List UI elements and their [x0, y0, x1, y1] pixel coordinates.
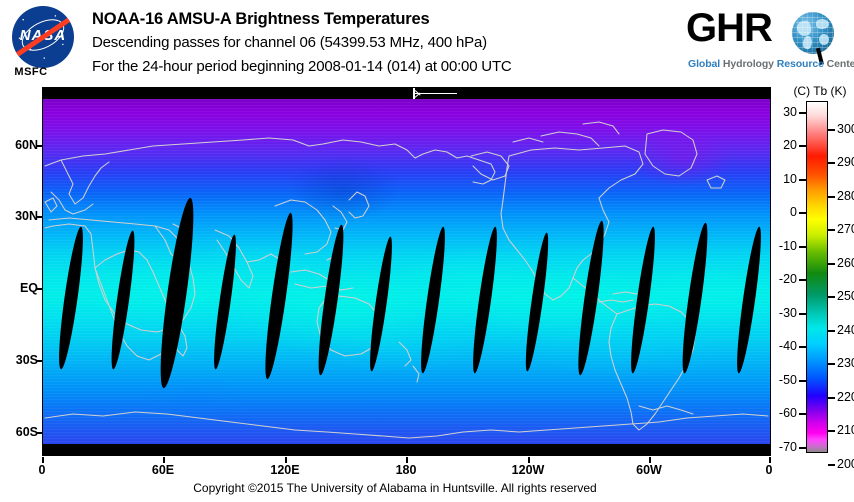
map-canvas [43, 88, 770, 455]
colorbar-k-label-230: 230 [837, 356, 854, 370]
lon-label-180: 180 [396, 463, 417, 477]
orbital-swath-gaps [43, 88, 770, 455]
lon-label-120e: 120E [270, 463, 299, 477]
lon-label-120w: 120W [512, 463, 545, 477]
colorbar-k-label-210: 210 [837, 423, 854, 437]
lon-label-60w: 60W [636, 463, 662, 477]
colorbar-c-label-0: 0 [790, 205, 797, 219]
colorbar-k-label-270: 270 [837, 222, 854, 236]
colorbar-c-label-m60: -60 [779, 406, 797, 420]
colorbar-k-label-200: 200 [837, 457, 854, 471]
globe-icon [792, 12, 834, 54]
longitude-axis: 0 60E 120E 180 120W 60W 0 [42, 457, 771, 479]
subtitle-period: For the 24-hour period beginning 2008-01… [92, 55, 672, 79]
colorbar-title: (C) Tb (K) [774, 84, 854, 98]
lon-label-0: 0 [39, 463, 46, 477]
north-polar-no-data-band [43, 88, 770, 99]
ascending-node-arrow-icon [413, 88, 459, 99]
colorbar-c-label-20: 20 [783, 138, 797, 152]
lat-tick-eq [36, 288, 42, 290]
colorbar-k-label-220: 220 [837, 390, 854, 404]
lon-label-60e: 60E [152, 463, 174, 477]
colorbar-k-label-300: 300 [837, 122, 854, 136]
colorbar-c-label-10: 10 [783, 172, 797, 186]
title-block: NOAA-16 AMSU-A Brightness Temperatures D… [92, 7, 672, 79]
colorbar-c-label-m70: -70 [779, 440, 797, 454]
brightness-temperature-map[interactable] [42, 87, 771, 456]
colorbar-k-label-290: 290 [837, 155, 854, 169]
copyright-notice: Copyright ©2015 The University of Alabam… [0, 481, 790, 495]
colorbar-k-label-280: 280 [837, 189, 854, 203]
lat-tick-30s [36, 360, 42, 362]
ghrc-wordmark: GHR [686, 6, 772, 51]
ghrc-tagline-word-1: Global [688, 58, 720, 70]
colorbar-c-label-m30: -30 [779, 306, 797, 320]
ghrc-tagline-word-2: Hydrology [723, 58, 774, 70]
nasa-center-label: MSFC [0, 66, 62, 78]
latitude-ticks [0, 87, 48, 456]
colorbar-gradient[interactable] [806, 101, 828, 453]
colorbar-c-label-m20: -20 [779, 272, 797, 286]
ghrc-tagline: Global Hydrology Resource Center [688, 58, 854, 70]
header: NASA MSFC NOAA-16 AMSU-A Brightness Temp… [0, 0, 854, 86]
ghrc-tagline-word-3: Resource [777, 58, 824, 70]
colorbar-c-label-30: 30 [783, 105, 797, 119]
nasa-insignia-icon: NASA [12, 6, 74, 68]
lat-tick-60n [36, 145, 42, 147]
lon-label-360: 0 [766, 463, 773, 477]
colorbar-c-label-m50: -50 [779, 373, 797, 387]
colorbar-c-label-m10: -10 [779, 239, 797, 253]
ghrc-tagline-word-4: Center [827, 58, 854, 70]
lat-tick-30n [36, 216, 42, 218]
nasa-logo: NASA [12, 6, 74, 68]
colorbar[interactable]: (C) Tb (K) 30 20 10 0 -10 -20 -30 -40 -5… [806, 101, 828, 453]
colorbar-k-label-260: 260 [837, 256, 854, 270]
lat-tick-60s [36, 432, 42, 434]
colorbar-k-label-250: 250 [837, 289, 854, 303]
ghrc-logo: GHR Global Hydrology Resource Center [686, 8, 846, 74]
south-polar-no-data-band [43, 444, 770, 455]
page-title: NOAA-16 AMSU-A Brightness Temperatures [92, 7, 672, 31]
subtitle-channel: Descending passes for channel 06 (54399.… [92, 31, 672, 55]
colorbar-c-label-m40: -40 [779, 339, 797, 353]
colorbar-k-label-240: 240 [837, 323, 854, 337]
